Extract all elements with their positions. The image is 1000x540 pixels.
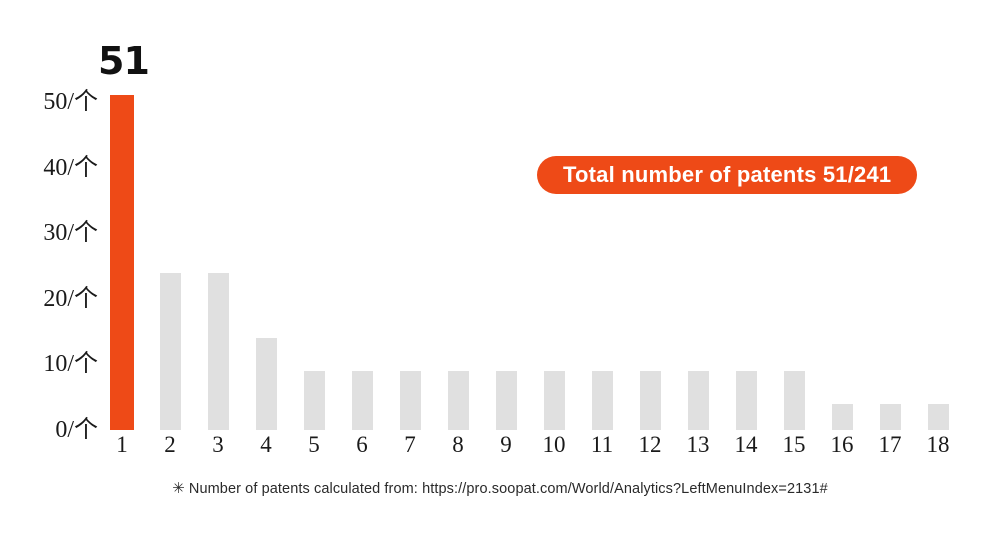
asterisk-icon: ✳ xyxy=(172,480,185,497)
bar-slot xyxy=(338,40,386,430)
bar[interactable] xyxy=(640,371,661,430)
bar-slot xyxy=(722,40,770,430)
bar[interactable] xyxy=(784,371,805,430)
bar-series: 51 xyxy=(98,40,978,430)
x-axis-tick: 9 xyxy=(482,432,530,458)
x-axis-tick: 12 xyxy=(626,432,674,458)
bar-slot xyxy=(578,40,626,430)
bar-slot xyxy=(482,40,530,430)
y-axis-tick: 30/个 xyxy=(43,218,98,248)
x-axis-tick: 11 xyxy=(578,432,626,458)
x-axis-tick: 3 xyxy=(194,432,242,458)
x-axis: 123456789101112131415161718 xyxy=(98,432,978,464)
plot-area: 51 xyxy=(98,40,978,430)
bar-slot xyxy=(434,40,482,430)
footnote: ✳Number of patents calculated from: http… xyxy=(0,479,1000,497)
x-axis-tick: 17 xyxy=(866,432,914,458)
bar[interactable] xyxy=(880,404,901,430)
bar[interactable] xyxy=(496,371,517,430)
bar-slot xyxy=(194,40,242,430)
x-axis-tick: 4 xyxy=(242,432,290,458)
footnote-text: Number of patents calculated from: https… xyxy=(189,481,828,497)
x-axis-tick: 13 xyxy=(674,432,722,458)
bar[interactable] xyxy=(544,371,565,430)
bar-slot xyxy=(866,40,914,430)
bar[interactable] xyxy=(928,404,949,430)
bar-slot xyxy=(530,40,578,430)
bar[interactable] xyxy=(688,371,709,430)
bar[interactable] xyxy=(400,371,421,430)
y-axis-tick: 20/个 xyxy=(43,284,98,314)
bar[interactable] xyxy=(304,371,325,430)
bar-slot xyxy=(626,40,674,430)
bar-slot xyxy=(146,40,194,430)
y-axis-tick: 40/个 xyxy=(43,153,98,183)
bar-slot xyxy=(770,40,818,430)
x-axis-tick: 16 xyxy=(818,432,866,458)
x-axis-tick: 8 xyxy=(434,432,482,458)
x-axis-tick: 2 xyxy=(146,432,194,458)
x-axis-tick: 18 xyxy=(914,432,962,458)
x-axis-tick: 14 xyxy=(722,432,770,458)
bar-slot xyxy=(386,40,434,430)
bar-slot xyxy=(818,40,866,430)
x-axis-tick: 1 xyxy=(98,432,146,458)
bar[interactable] xyxy=(736,371,757,430)
bar-slot xyxy=(290,40,338,430)
x-axis-tick: 7 xyxy=(386,432,434,458)
bar-slot xyxy=(914,40,962,430)
y-axis-tick: 0/个 xyxy=(55,415,98,445)
bar[interactable] xyxy=(256,338,277,430)
bar[interactable] xyxy=(448,371,469,430)
bar-slot: 51 xyxy=(98,40,146,430)
x-axis-tick: 5 xyxy=(290,432,338,458)
x-axis-tick: 10 xyxy=(530,432,578,458)
bar[interactable] xyxy=(592,371,613,430)
y-axis: 50/个40/个30/个20/个10/个0/个 xyxy=(28,88,98,448)
bar-slot xyxy=(242,40,290,430)
bar[interactable] xyxy=(832,404,853,430)
x-axis-tick: 6 xyxy=(338,432,386,458)
bar[interactable] xyxy=(208,273,229,430)
bar-highlighted[interactable] xyxy=(110,95,134,430)
bar-value-label: 51 xyxy=(98,39,146,83)
bar-slot xyxy=(674,40,722,430)
patent-bar-chart: 50/个40/个30/个20/个10/个0/个 51 1234567891011… xyxy=(0,0,1000,540)
x-axis-tick: 15 xyxy=(770,432,818,458)
bar[interactable] xyxy=(352,371,373,430)
total-patents-badge-label: Total number of patents 51/241 xyxy=(563,162,891,188)
total-patents-badge: Total number of patents 51/241 xyxy=(537,156,917,194)
y-axis-tick: 50/个 xyxy=(43,87,98,117)
y-axis-tick: 10/个 xyxy=(43,349,98,379)
bar[interactable] xyxy=(160,273,181,430)
